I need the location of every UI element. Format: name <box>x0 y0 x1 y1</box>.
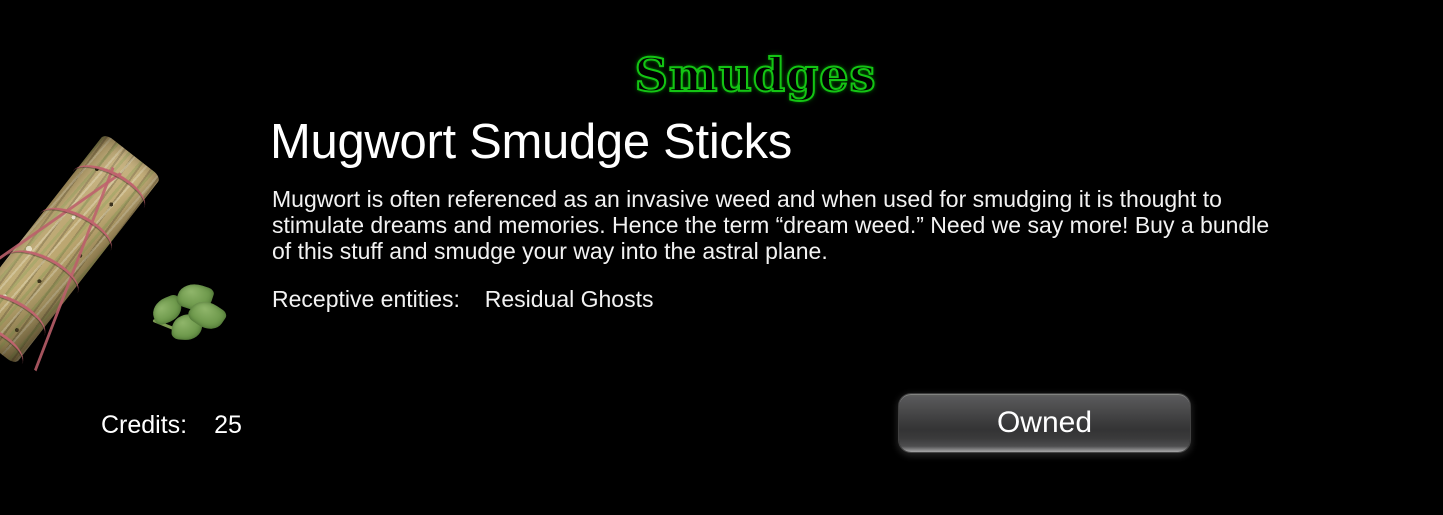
receptive-entities-value: Residual Ghosts <box>485 286 654 312</box>
smudge-stick-icon <box>0 133 162 365</box>
description-line: stimulate dreams and memories. Hence the… <box>272 212 1443 238</box>
mugwort-leaf-icon <box>150 284 230 348</box>
product-name: Mugwort Smudge Sticks <box>270 118 792 167</box>
credits-row: Credits: 25 <box>101 411 242 440</box>
shop-item-screen: Smudges Mugwort Smudge Sticks Mugwort is… <box>0 0 1443 515</box>
purchase-action-button[interactable]: Owned <box>899 394 1190 452</box>
credits-label: Credits: <box>101 411 187 439</box>
receptive-entities: Receptive entities: Residual Ghosts <box>272 286 653 312</box>
description-line: Mugwort is often referenced as an invasi… <box>272 186 1443 212</box>
description-line: of this stuff and smudge your way into t… <box>272 238 1443 264</box>
product-image <box>0 108 250 370</box>
receptive-entities-label: Receptive entities: <box>272 286 460 312</box>
product-description: Mugwort is often referenced as an invasi… <box>272 186 1443 264</box>
credits-value: 25 <box>214 411 242 440</box>
category-title: Smudges <box>0 52 1443 98</box>
